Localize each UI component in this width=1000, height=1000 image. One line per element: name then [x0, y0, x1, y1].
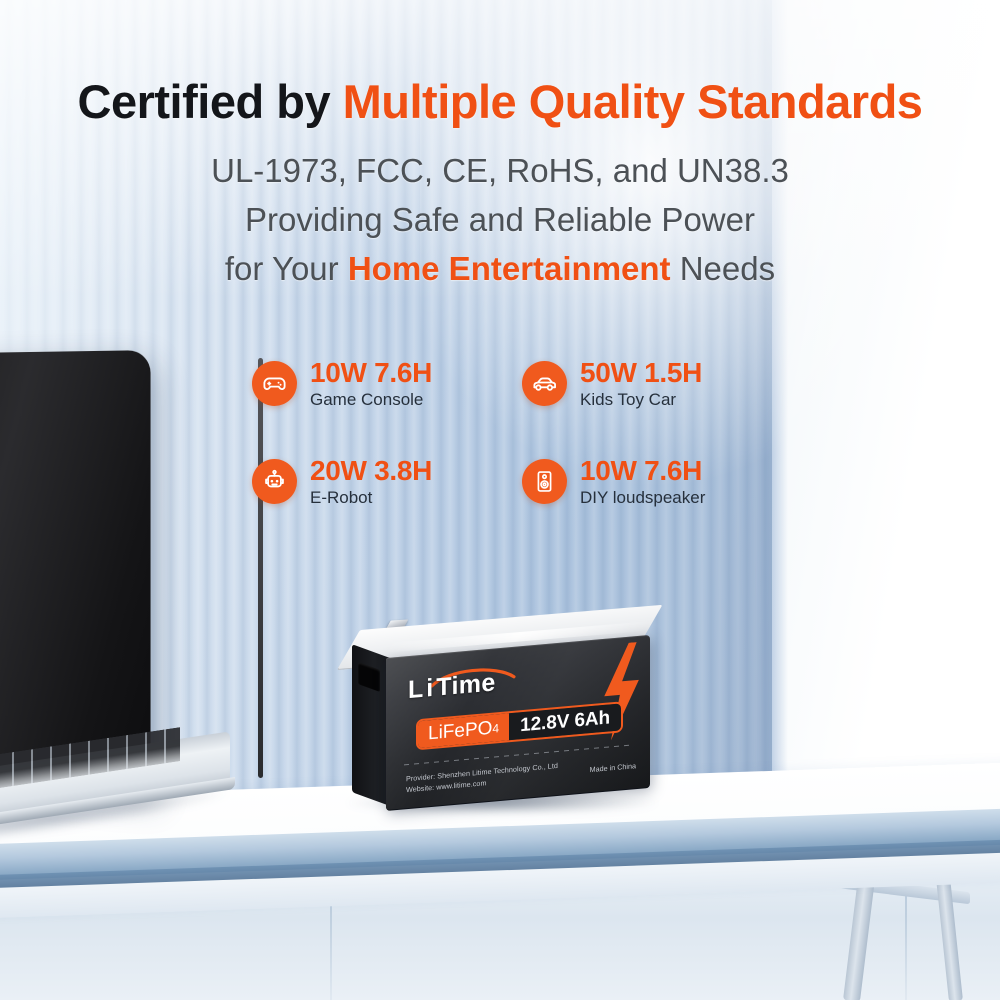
chemistry-subscript: 4: [492, 722, 499, 735]
feature-text: 50W 1.5H Kids Toy Car: [580, 358, 702, 410]
headline-accent: Multiple Quality Standards: [343, 75, 923, 128]
litime-wordmark: LiTime: [408, 670, 496, 703]
battery-product: LiTime LiFePO4 12.8V 6Ah Provider: Shenz…: [352, 614, 652, 814]
chemistry-text: LiFePO: [428, 719, 492, 744]
subheading-line-2: Providing Safe and Reliable Power: [0, 201, 1000, 239]
headline: Certified by Multiple Quality Standards: [0, 74, 1000, 129]
feature-label: DIY loudspeaker: [580, 487, 705, 508]
subheading-line-3-accent: Home Entertainment: [348, 250, 671, 287]
subheading-line-3: for Your Home Entertainment Needs: [0, 250, 1000, 288]
headline-prefix: Certified by: [78, 75, 343, 128]
feature-row: 10W 7.6H Game Console 5: [252, 358, 792, 410]
subheading-line-1: UL-1973, FCC, CE, RoHS, and UN38.3: [0, 152, 1000, 190]
robot-icon: [252, 459, 297, 504]
subheading-line-3-prefix: for Your: [225, 250, 348, 287]
subheading-line-3-suffix: Needs: [671, 250, 776, 287]
floor-seam: [905, 880, 907, 1000]
feature-label: E-Robot: [310, 487, 432, 508]
logo-li: Li: [408, 674, 436, 704]
feature-item-kids-toy-car: 50W 1.5H Kids Toy Car: [522, 358, 792, 410]
laptop: [0, 352, 260, 822]
battery-chemistry-label: LiFePO4: [418, 713, 509, 748]
toy-car-icon: [522, 361, 567, 406]
feature-label: Kids Toy Car: [580, 389, 702, 410]
feature-value: 10W 7.6H: [580, 456, 705, 486]
feature-item-diy-loudspeaker: 10W 7.6H DIY loudspeaker: [522, 456, 792, 508]
feature-row: 20W 3.8H E-Robot 10W 7.6H DIY loudspeak: [252, 456, 792, 508]
battery-front-label: LiTime LiFePO4 12.8V 6Ah Provider: Shenz…: [386, 635, 650, 810]
feature-label: Game Console: [310, 389, 432, 410]
loudspeaker-icon: [522, 459, 567, 504]
marketing-banner: Certified by Multiple Quality Standards …: [0, 0, 1000, 1000]
logo-time: Time: [436, 668, 496, 701]
feature-item-game-console: 10W 7.6H Game Console: [252, 358, 522, 410]
feature-value: 50W 1.5H: [580, 358, 702, 388]
feature-item-e-robot: 20W 3.8H E-Robot: [252, 456, 522, 508]
feature-text: 10W 7.6H DIY loudspeaker: [580, 456, 705, 508]
feature-text: 10W 7.6H Game Console: [310, 358, 432, 410]
feature-value: 10W 7.6H: [310, 358, 432, 388]
game-controller-icon: [252, 361, 297, 406]
feature-grid: 10W 7.6H Game Console 5: [252, 358, 792, 508]
laptop-screen-lid: [0, 350, 151, 793]
feature-text: 20W 3.8H E-Robot: [310, 456, 432, 508]
feature-value: 20W 3.8H: [310, 456, 432, 486]
